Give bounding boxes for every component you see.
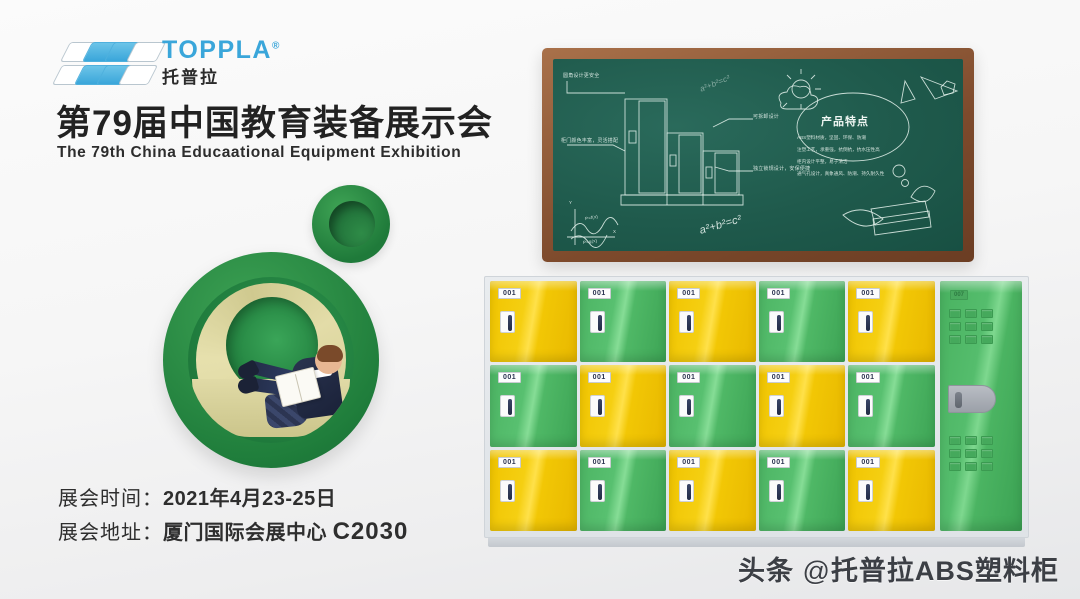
locker-number: 001 (767, 288, 790, 299)
keypad-key[interactable] (965, 309, 977, 318)
locker-door[interactable]: 001 (580, 450, 667, 531)
product-feature-item: ABS塑料材质，坚固、环保、防潮 (797, 135, 866, 141)
locker-handle[interactable] (590, 395, 605, 417)
locker-number: 001 (677, 372, 700, 383)
watermark-account: 托普拉ABS塑料柜 (831, 556, 1059, 586)
keypad-key[interactable] (981, 449, 993, 458)
keypad-key[interactable] (949, 335, 961, 344)
blackboard-surface: 圆角设计更安全 柜门颜色丰富，灵活搭配 可拆卸设计 独立锁规设计，安保便捷 a²… (553, 59, 963, 251)
locker-number: 001 (767, 372, 790, 383)
locker-handle[interactable] (858, 395, 873, 417)
locker-handle[interactable] (679, 311, 694, 333)
brand-name-en: TOPPLA® (162, 38, 281, 63)
locker-handle[interactable] (500, 480, 515, 502)
locker-number: 001 (856, 288, 879, 299)
watermark-platform: 头条 (738, 556, 794, 586)
locker-door[interactable]: 001 (848, 365, 935, 446)
keypad-key[interactable] (965, 335, 977, 344)
locker-door[interactable]: 001 (759, 365, 846, 446)
product-feature-item: 柜内设计平整，易于清洁 (797, 159, 848, 165)
locker-number: 001 (498, 288, 521, 299)
keypad-key[interactable] (981, 322, 993, 331)
locker-door[interactable]: 001 (490, 450, 577, 531)
locker-handle[interactable] (679, 395, 694, 417)
locker-handle[interactable] (769, 480, 784, 502)
locker-grid: 0010010010010010010010010010010010010010… (490, 281, 935, 531)
locker-handle[interactable] (769, 311, 784, 333)
locker-door[interactable]: 001 (490, 281, 577, 362)
tall-locker-number: 007 (950, 290, 968, 300)
keypad-key[interactable] (965, 462, 977, 471)
keypad-key[interactable] (949, 462, 961, 471)
brand-wordmark: TOPPLA® 托普拉 (162, 38, 281, 86)
event-venue-value: 厦门国际会展中心 (163, 522, 327, 544)
brand-logo: TOPPLA® 托普拉 (57, 38, 317, 93)
locker-handle[interactable] (590, 311, 605, 333)
event-hall-number: C2030 (333, 518, 409, 545)
locker-number: 001 (856, 457, 879, 468)
locker-door[interactable]: 001 (759, 281, 846, 362)
keypad-key[interactable] (949, 322, 961, 331)
locker-door[interactable]: 001 (848, 450, 935, 531)
locker-number: 001 (856, 372, 879, 383)
keypad-key[interactable] (949, 436, 961, 445)
product-features-title: 产品特点 (821, 113, 869, 129)
locker-handle[interactable] (590, 480, 605, 502)
chalk-callout: 可拆卸设计 (753, 113, 779, 120)
keypad-key[interactable] (981, 436, 993, 445)
locker-handle[interactable] (858, 311, 873, 333)
poster-canvas: TOPPLA® 托普拉 第79届中国教育装备展示会 The 79th China… (0, 0, 1080, 599)
tall-locker[interactable]: 007 (940, 281, 1022, 531)
chalk-axis-label-y: Y (569, 200, 572, 205)
product-feature-item: 通气孔设计，真象通风、防潮、持久耐久性 (797, 171, 884, 177)
blackboard-frame: 圆角设计更安全 柜门颜色丰富，灵活搭配 可拆卸设计 独立锁规设计，安保便捷 a²… (542, 48, 974, 262)
green-tube-prop (312, 185, 390, 263)
locker-handle[interactable] (858, 480, 873, 502)
toppla-parallelogram-mark-icon (57, 40, 152, 90)
keypad-key[interactable] (965, 449, 977, 458)
child-reading-book (232, 347, 344, 431)
tall-locker-keypad-bottom[interactable] (949, 436, 993, 471)
tall-locker-keypad-top[interactable] (949, 309, 993, 344)
locker-door[interactable]: 001 (490, 365, 577, 446)
event-date-value: 2021年4月23-25日 (163, 488, 336, 510)
chalk-callout: 柜门颜色丰富，灵活搭配 (561, 137, 618, 144)
locker-number: 001 (767, 457, 790, 468)
locker-door[interactable]: 001 (669, 450, 756, 531)
locker-number: 001 (498, 372, 521, 383)
keypad-key[interactable] (949, 449, 961, 458)
locker-handle[interactable] (769, 395, 784, 417)
locker-door[interactable]: 001 (669, 281, 756, 362)
chalk-callout: 圆角设计更安全 (563, 72, 599, 79)
watermark-at: @ (803, 556, 831, 586)
locker-door[interactable]: 001 (848, 281, 935, 362)
locker-number: 001 (498, 457, 521, 468)
locker-door[interactable]: 001 (580, 281, 667, 362)
chalk-drawing (553, 59, 963, 251)
product-feature-item: 注塑工艺，承重强，抗倒抗，抗水压性高 (797, 147, 880, 153)
locker-number: 001 (588, 288, 611, 299)
locker-door[interactable]: 001 (580, 365, 667, 446)
locker-number: 001 (677, 457, 700, 468)
page-title-en: The 79th China Educaational Equipment Ex… (57, 144, 461, 162)
brand-name-cn: 托普拉 (162, 69, 281, 86)
page-title-cn: 第79届中国教育装备展示会 (56, 105, 493, 144)
event-date-label: 展会时间： (58, 488, 163, 510)
keypad-key[interactable] (981, 309, 993, 318)
lock-icon (955, 392, 962, 408)
locker-number: 001 (588, 372, 611, 383)
event-date-line: 展会时间：2021年4月23-25日 (58, 482, 336, 511)
child-hair (317, 345, 343, 362)
registered-mark: ® (272, 41, 281, 52)
keypad-key[interactable] (949, 309, 961, 318)
keypad-key[interactable] (981, 335, 993, 344)
tall-locker-handle[interactable] (948, 385, 996, 413)
locker-door[interactable]: 001 (759, 450, 846, 531)
locker-number: 001 (677, 288, 700, 299)
locker-handle[interactable] (500, 395, 515, 417)
keypad-key[interactable] (981, 462, 993, 471)
pod-interior (188, 277, 354, 443)
locker-handle[interactable] (679, 480, 694, 502)
locker-bank: 0010010010010010010010010010010010010010… (484, 276, 1029, 538)
locker-number: 001 (588, 457, 611, 468)
locker-base-plinth (488, 538, 1025, 547)
reading-tunnel-pod (163, 252, 379, 468)
watermark: 头条 @托普拉ABS塑料柜 (738, 549, 1059, 588)
event-venue-line: 展会地址：厦门国际会展中心 C2030 (58, 516, 408, 546)
locker-handle[interactable] (500, 311, 515, 333)
event-venue-label: 展会地址： (58, 522, 163, 544)
child-shoe (236, 376, 259, 396)
chalk-axis-label-x: X (613, 229, 616, 234)
locker-door[interactable]: 001 (669, 365, 756, 446)
keypad-key[interactable] (965, 322, 977, 331)
keypad-key[interactable] (965, 436, 977, 445)
